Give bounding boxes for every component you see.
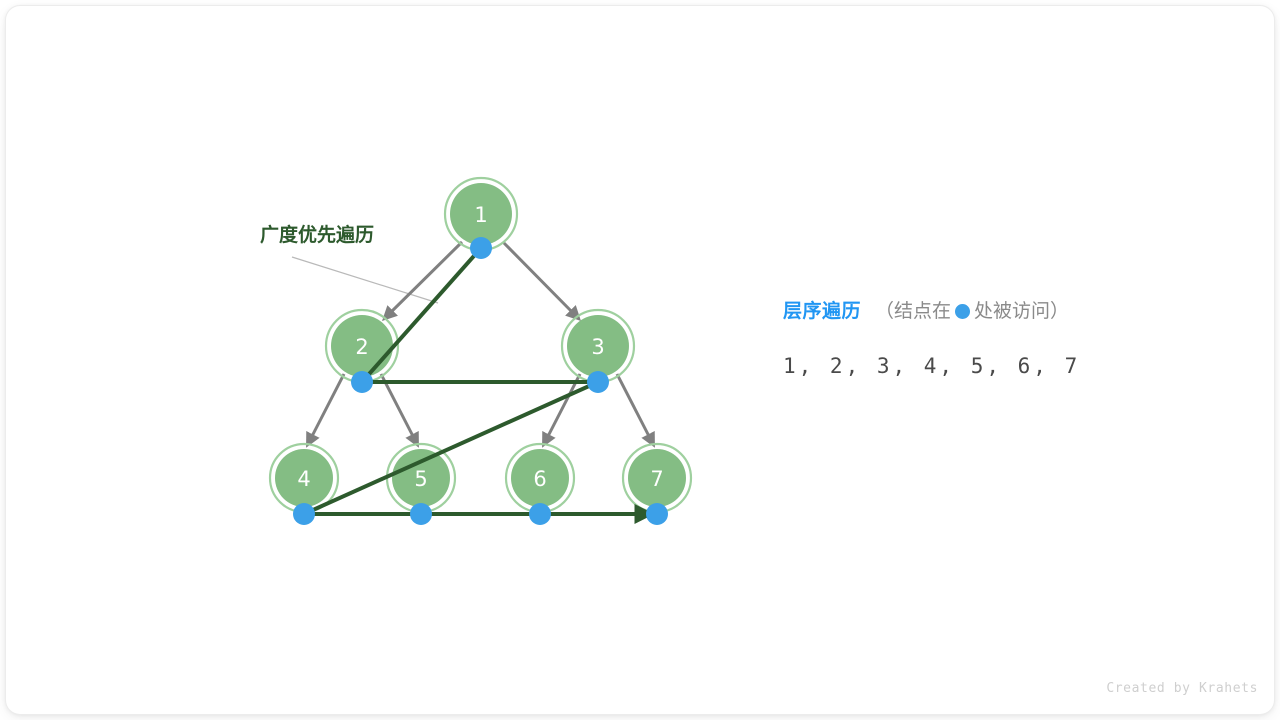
heading-note-suffix: 处被访问） (974, 298, 1069, 324)
tree-edge-2-4 (308, 374, 344, 444)
node-label: 4 (297, 467, 310, 491)
heading-note-prefix: （结点在 (875, 298, 951, 324)
tree-edge-2-5 (381, 374, 417, 444)
tree-node-7[interactable]: 7 (623, 444, 691, 512)
node-label: 1 (474, 203, 487, 227)
tree-edge-3-7 (617, 374, 653, 444)
visit-dot-node-7 (646, 503, 668, 525)
visit-dot-node-4 (293, 503, 315, 525)
visit-dot-node-5 (410, 503, 432, 525)
visit-dot-node-3 (587, 371, 609, 393)
traversal-info-panel: 层序遍历 （结点在 处被访问） 1, 2, 3, 4, 5, 6, 7 (783, 298, 1223, 378)
tree-node-6[interactable]: 6 (506, 444, 574, 512)
node-label: 5 (414, 467, 427, 491)
traversal-sequence: 1, 2, 3, 4, 5, 6, 7 (783, 354, 1223, 378)
traversal-heading: 层序遍历 （结点在 处被访问） (783, 298, 1223, 324)
tree-node-5[interactable]: 5 (387, 444, 455, 512)
visit-dot-node-1 (470, 237, 492, 259)
visit-dot-node-6 (529, 503, 551, 525)
bfs-annotation-label: 广度优先遍历 (260, 223, 374, 246)
traversal-heading-note: （结点在 处被访问） (875, 298, 1069, 324)
node-label: 7 (650, 467, 663, 491)
node-label: 3 (591, 335, 604, 359)
visit-dot-icon (955, 304, 970, 319)
node-label: 6 (533, 467, 546, 491)
tree-edge-3-6 (544, 374, 580, 444)
diagram-stage: 1 2 3 4 5 (0, 0, 1280, 720)
annotation-leader-line (292, 257, 438, 303)
visit-dot-node-2 (351, 371, 373, 393)
node-label: 2 (355, 335, 368, 359)
traversal-heading-title: 层序遍历 (783, 298, 861, 324)
footer-credit: Created by Krahets (1106, 681, 1258, 696)
tree-edge-1-3 (503, 242, 578, 318)
